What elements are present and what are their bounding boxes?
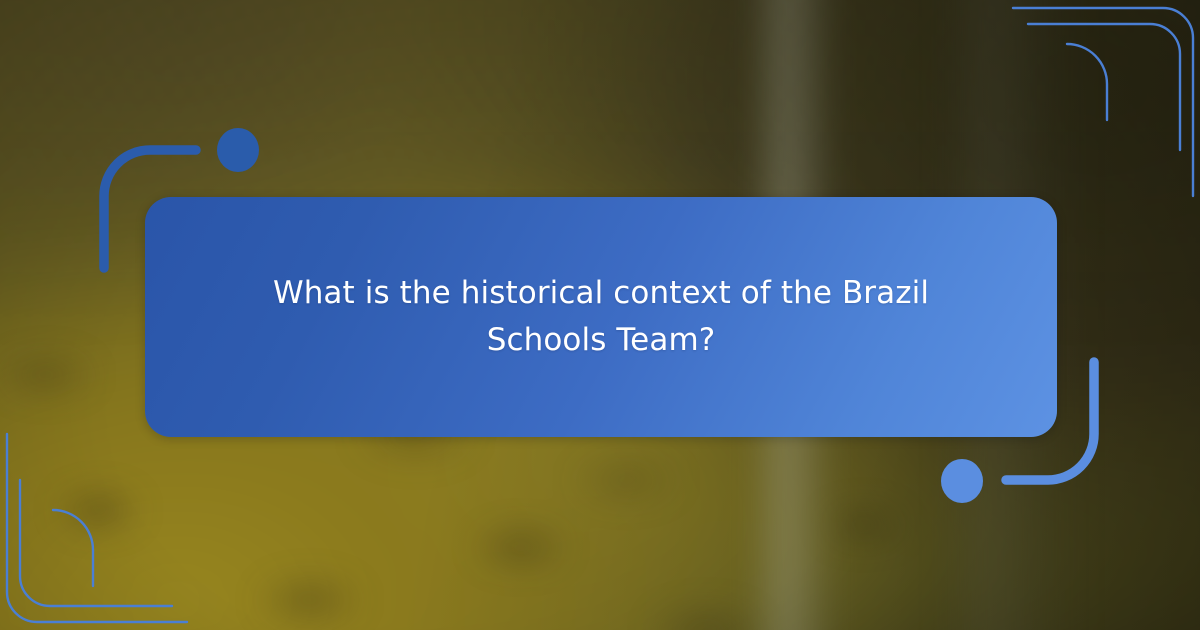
question-text: What is the historical context of the Br…: [219, 270, 983, 364]
question-card-graphic: What is the historical context of the Br…: [0, 0, 1200, 630]
question-card: What is the historical context of the Br…: [145, 197, 1057, 437]
